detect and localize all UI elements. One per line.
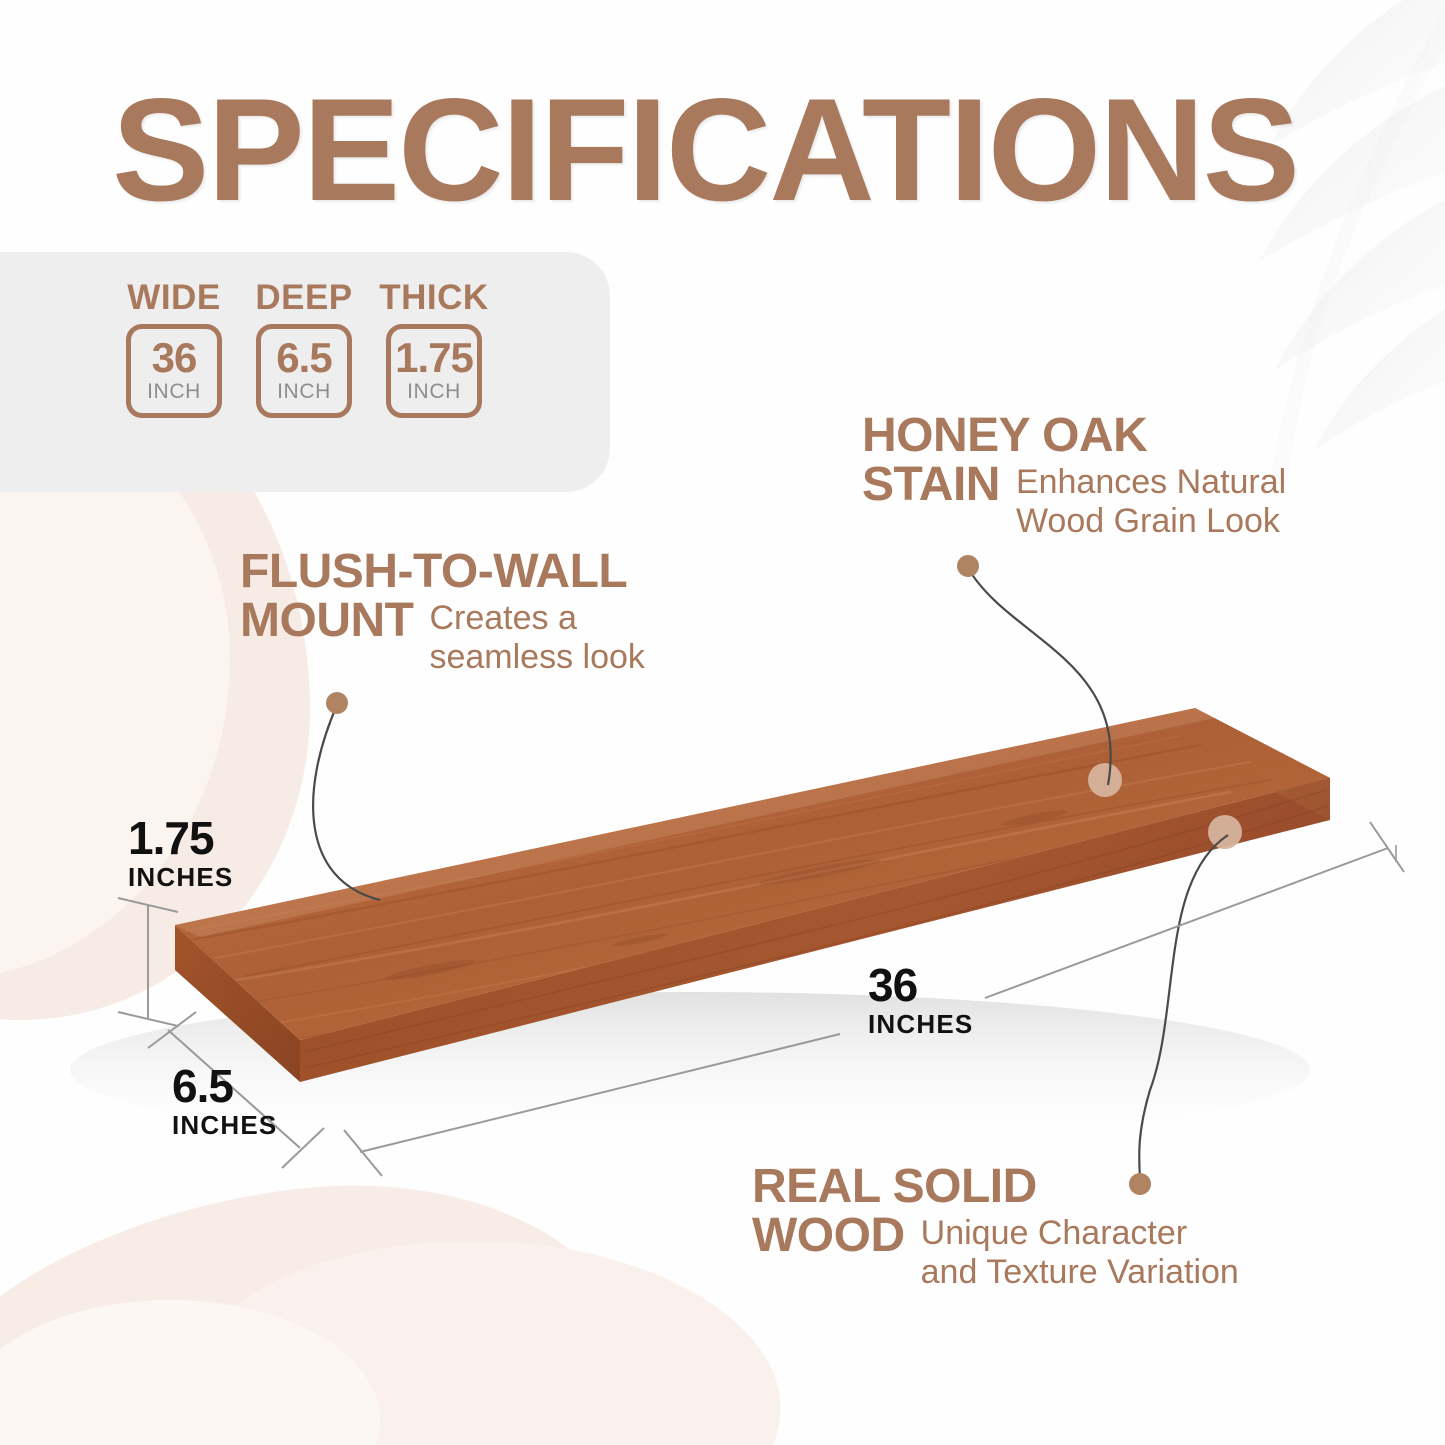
dimension-label-thickness: 1.75 INCHES bbox=[128, 815, 233, 894]
callout-flush-to-wall-mount: FLUSH-TO-WALL MOUNT Creates a seamless l… bbox=[240, 548, 645, 676]
callout-title-flush-line2: MOUNT bbox=[240, 597, 413, 646]
spec-value-thick: 1.75 bbox=[395, 338, 473, 378]
callout-sub-wood: Unique Character and Texture Variation bbox=[921, 1214, 1239, 1292]
callout-title-honey-line1: HONEY OAK bbox=[862, 412, 1286, 461]
callout-sub-flush: Creates a seamless look bbox=[429, 599, 644, 677]
infographic-canvas: SPECIFICATIONS WIDE 36 INCH DEEP 6.5 INC… bbox=[0, 0, 1445, 1445]
shelf-top-face bbox=[175, 708, 1330, 1040]
callout-title-honey-line2: STAIN bbox=[862, 461, 1000, 510]
callout-title-wood-line1: REAL SOLID bbox=[752, 1163, 1239, 1212]
spec-label-deep: DEEP bbox=[255, 280, 352, 315]
page-title: SPECIFICATIONS bbox=[112, 77, 1298, 223]
dimension-value-thickness: 1.75 bbox=[128, 815, 233, 861]
spec-column-thick: THICK 1.75 INCH bbox=[380, 280, 488, 418]
leader-dot-honey bbox=[957, 555, 979, 577]
spec-column-wide: WIDE 36 INCH bbox=[120, 280, 228, 418]
dimension-unit-thickness: INCHES bbox=[128, 861, 233, 894]
callout-sub-honey-line2: Wood Grain Look bbox=[1016, 502, 1286, 541]
spec-box-deep: 6.5 INCH bbox=[256, 324, 352, 418]
dimension-value-depth: 6.5 bbox=[172, 1063, 277, 1109]
pink-blob-bottom-2 bbox=[167, 1214, 793, 1445]
dimension-label-depth: 6.5 INCHES bbox=[172, 1063, 277, 1142]
spec-value-wide: 36 bbox=[152, 338, 197, 378]
spec-value-deep: 6.5 bbox=[276, 338, 331, 378]
callout-anchor-edge bbox=[1208, 815, 1242, 849]
callout-anchor-top bbox=[1088, 763, 1122, 797]
callout-title-wood-line2: WOOD bbox=[752, 1212, 905, 1261]
callout-sub-honey-line1: Enhances Natural bbox=[1016, 463, 1286, 502]
spec-box-thick: 1.75 INCH bbox=[386, 324, 482, 418]
specs-row: WIDE 36 INCH DEEP 6.5 INCH THICK 1.75 IN… bbox=[120, 280, 488, 418]
callout-sub-flush-line2: seamless look bbox=[429, 638, 644, 677]
spec-box-wide: 36 INCH bbox=[126, 324, 222, 418]
callout-sub-wood-line2: and Texture Variation bbox=[921, 1253, 1239, 1292]
spec-unit-deep: INCH bbox=[277, 379, 331, 404]
callout-honey-oak-stain: HONEY OAK STAIN Enhances Natural Wood Gr… bbox=[862, 412, 1286, 540]
dimension-value-width: 36 bbox=[868, 962, 973, 1008]
spec-unit-thick: INCH bbox=[407, 379, 461, 404]
dimension-label-width: 36 INCHES bbox=[868, 962, 973, 1041]
dimension-unit-width: INCHES bbox=[868, 1008, 973, 1041]
callout-sub-flush-line1: Creates a bbox=[429, 599, 644, 638]
spec-unit-wide: INCH bbox=[147, 379, 201, 404]
callout-real-solid-wood: REAL SOLID WOOD Unique Character and Tex… bbox=[752, 1163, 1239, 1291]
spec-label-wide: WIDE bbox=[127, 280, 220, 315]
spec-label-thick: THICK bbox=[379, 280, 488, 315]
callout-sub-wood-line1: Unique Character bbox=[921, 1214, 1239, 1253]
dimension-unit-depth: INCHES bbox=[172, 1109, 277, 1142]
spec-column-deep: DEEP 6.5 INCH bbox=[250, 280, 358, 418]
pink-blob-bottom-3 bbox=[0, 1300, 380, 1445]
specs-card: WIDE 36 INCH DEEP 6.5 INCH THICK 1.75 IN… bbox=[0, 252, 610, 492]
callout-title-flush-line1: FLUSH-TO-WALL bbox=[240, 548, 645, 597]
callout-sub-honey: Enhances Natural Wood Grain Look bbox=[1016, 463, 1286, 541]
